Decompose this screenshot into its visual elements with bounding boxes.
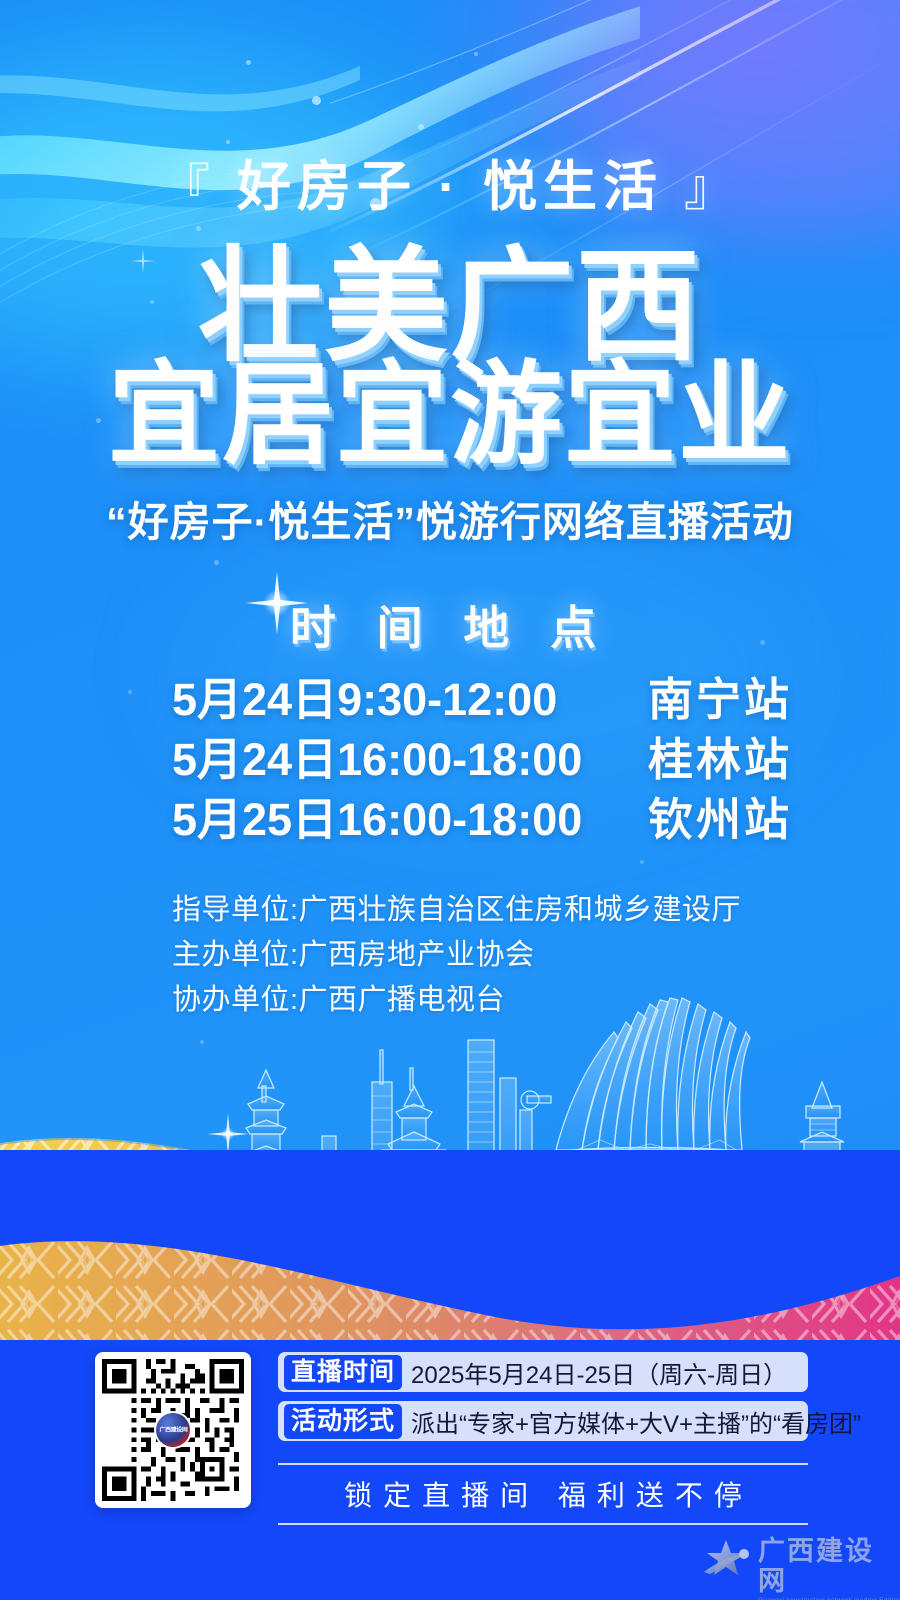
- star-swoosh-logo-icon: [700, 1538, 756, 1582]
- qr-code-card[interactable]: 广西建设网: [95, 1352, 251, 1508]
- organizer-list: 指导单位:广西壮族自治区住房和城乡建设厅 主办单位:广西房地产业协会 协办单位:…: [172, 888, 822, 1023]
- organizer-row: 协办单位:广西广播电视台: [172, 978, 822, 1023]
- info-panel: 直播时间 2025年5月24日-25日（周六-周日） 活动形式 派出“专家+官方…: [278, 1352, 808, 1450]
- tagline-block: 锁定直播间 福利送不停: [278, 1463, 808, 1525]
- qr-code-inner: 广西建设网: [102, 1359, 244, 1501]
- qr-center-logo: 广西建设网: [156, 1413, 190, 1447]
- schedule-time: 5月24日9:30-12:00: [172, 672, 557, 727]
- schedule-time: 5月25日16:00-18:00: [172, 792, 582, 847]
- section-title-time-location: 时 间 地 点: [0, 592, 900, 658]
- kicker-text: 好房子 · 悦生活: [237, 157, 663, 217]
- headline-line-2: 宜居宜游宜业: [0, 358, 900, 472]
- schedule-place: 桂林站: [648, 732, 792, 787]
- info-value: 派出“专家+官方媒体+大V+主播”的“看房团”: [411, 1404, 861, 1439]
- info-row-broadcast-time: 直播时间 2025年5月24日-25日（周六-周日）: [278, 1352, 808, 1392]
- schedule-row: 5月25日16:00-18:00 钦州站: [172, 792, 792, 847]
- schedule-list: 5月24日9:30-12:00 南宁站 5月24日16:00-18:00 桂林站…: [172, 672, 792, 852]
- bracket-close: 』: [684, 160, 740, 216]
- bracket-open: 『: [160, 160, 216, 216]
- watermark-en: Guangxi construction network leading Edi…: [758, 1596, 900, 1600]
- schedule-row: 5月24日16:00-18:00 桂林站: [172, 732, 792, 787]
- watermark-logo: 广西建设网 Guangxi construction network leadi…: [700, 1534, 890, 1590]
- poster-canvas: 『 好房子 · 悦生活 』 壮美广西 宜居宜游宜业 “好房子·悦生活”悦游行网络…: [0, 0, 900, 1600]
- tagline-text: 锁定直播间 福利送不停: [278, 1465, 808, 1523]
- watermark-text-group: 广西建设网 Guangxi construction network leadi…: [758, 1536, 900, 1600]
- schedule-time: 5月24日16:00-18:00: [172, 732, 582, 787]
- schedule-place: 南宁站: [648, 672, 792, 727]
- info-value: 2025年5月24日-25日（周六-周日）: [411, 1355, 787, 1390]
- info-tag: 直播时间: [284, 1355, 402, 1390]
- poster-content: 『 好房子 · 悦生活 』 壮美广西 宜居宜游宜业 “好房子·悦生活”悦游行网络…: [0, 0, 900, 1600]
- kicker-title: 『 好房子 · 悦生活 』: [0, 142, 900, 221]
- qr-logo-text: 广西建设网: [159, 1426, 187, 1435]
- subheadline: “好房子·悦生活”悦游行网络直播活动: [0, 488, 900, 548]
- tagline-rule-bottom: [278, 1523, 808, 1525]
- organizer-row: 主办单位:广西房地产业协会: [172, 933, 822, 978]
- info-tag: 活动形式: [284, 1404, 402, 1439]
- schedule-row: 5月24日9:30-12:00 南宁站: [172, 672, 792, 727]
- info-row-activity-format: 活动形式 派出“专家+官方媒体+大V+主播”的“看房团”: [278, 1401, 808, 1441]
- watermark-cn: 广西建设网: [758, 1536, 900, 1596]
- organizer-row: 指导单位:广西壮族自治区住房和城乡建设厅: [172, 888, 822, 933]
- schedule-place: 钦州站: [648, 792, 792, 847]
